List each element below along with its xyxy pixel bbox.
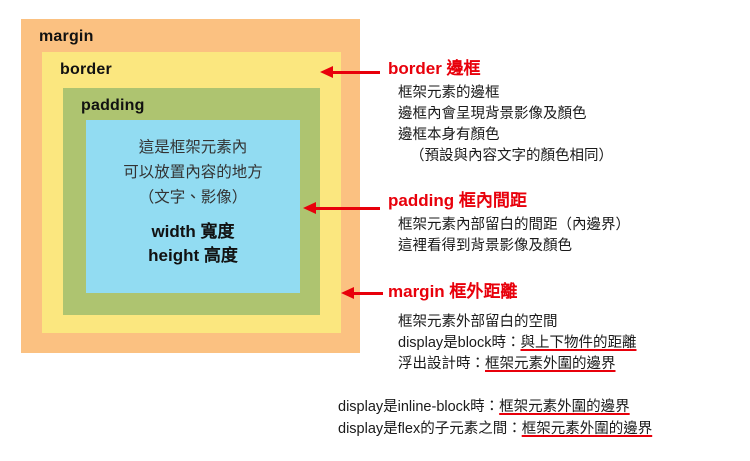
annotation-padding-line-1: 框架元素內部留白的間距（內邊界） (398, 215, 750, 236)
content-text-line-2: 可以放置內容的地方 (86, 160, 300, 185)
content-layer-text: 這是框架元素內 可以放置內容的地方 （文字、影像） width 寬度 heigh… (86, 135, 300, 268)
padding-layer: padding 這是框架元素內 可以放置內容的地方 （文字、影像） width … (63, 88, 320, 315)
annotation-margin-line-2-underlined: 與上下物件的距離 (521, 335, 637, 351)
content-dimensions: width 寬度 height 高度 (86, 220, 300, 268)
annotation-border-title: border 邊框 (388, 58, 750, 80)
box-model-diagram-page: margin border padding 這是框架元素內 可以放置內容的地方 … (0, 0, 750, 461)
annotation-extra-line-1: display是inline-block時：框架元素外圍的邊界 (338, 396, 750, 418)
annotation-margin-line-3: 浮出設計時：框架元素外圍的邊界 (398, 354, 750, 375)
annotation-border-line-2: 邊框內會呈現背景影像及顏色 (398, 104, 750, 125)
annotation-margin-line-1: 框架元素外部留白的空間 (398, 312, 750, 333)
annotation-margin-line-3-underlined: 框架元素外圍的邊界 (485, 356, 616, 372)
annotation-padding-title: padding 框內間距 (388, 190, 750, 212)
annotation-extra-line-2: display是flex的子元素之間：框架元素外圍的邊界 (338, 418, 750, 440)
border-layer: border padding 這是框架元素內 可以放置內容的地方 （文字、影像）… (42, 52, 341, 333)
content-text-line-3: （文字、影像） (86, 185, 300, 210)
annotation-margin-line-2-plain: display是block時： (398, 335, 521, 351)
annotation-margin-line-2: display是block時：與上下物件的距離 (398, 333, 750, 354)
annotation-padding-line-2: 這裡看得到背景影像及顏色 (398, 236, 750, 257)
padding-layer-label: padding (81, 97, 145, 115)
annotation-border: border 邊框 框架元素的邊框 邊框內會呈現背景影像及顏色 邊框本身有顏色 … (388, 58, 750, 167)
height-label: height 高度 (86, 244, 300, 268)
annotation-margin-body: 框架元素外部留白的空間 display是block時：與上下物件的距離 浮出設計… (398, 312, 750, 375)
annotation-margin-line-3-plain: 浮出設計時： (398, 356, 485, 372)
annotation-border-line-1: 框架元素的邊框 (398, 83, 750, 104)
annotation-padding: padding 框內間距 框架元素內部留白的間距（內邊界） 這裡看得到背景影像及… (388, 190, 750, 257)
annotation-margin-title: margin 框外距離 (388, 281, 750, 303)
annotation-border-line-4: （預設與內容文字的顏色相同） (398, 146, 750, 167)
annotation-extra-line-1-underlined: 框架元素外圍的邊界 (499, 399, 630, 415)
content-layer: 這是框架元素內 可以放置內容的地方 （文字、影像） width 寬度 heigh… (86, 120, 300, 293)
annotation-padding-body: 框架元素內部留白的間距（內邊界） 這裡看得到背景影像及顏色 (398, 215, 750, 257)
annotation-extra-line-2-plain: display是flex的子元素之間： (338, 421, 522, 437)
margin-layer: margin border padding 這是框架元素內 可以放置內容的地方 … (21, 19, 360, 353)
width-label: width 寬度 (86, 220, 300, 244)
annotation-border-body: 框架元素的邊框 邊框內會呈現背景影像及顏色 邊框本身有顏色 （預設與內容文字的顏… (398, 83, 750, 167)
annotation-border-line-3: 邊框本身有顏色 (398, 125, 750, 146)
annotation-extra: display是inline-block時：框架元素外圍的邊界 display是… (338, 396, 750, 440)
margin-layer-label: margin (39, 28, 94, 46)
annotation-extra-line-2-underlined: 框架元素外圍的邊界 (522, 421, 653, 437)
annotation-extra-line-1-plain: display是inline-block時： (338, 399, 499, 415)
border-layer-label: border (60, 61, 112, 79)
annotation-margin: margin 框外距離 框架元素外部留白的空間 display是block時：與… (388, 281, 750, 375)
content-text-line-1: 這是框架元素內 (86, 135, 300, 160)
